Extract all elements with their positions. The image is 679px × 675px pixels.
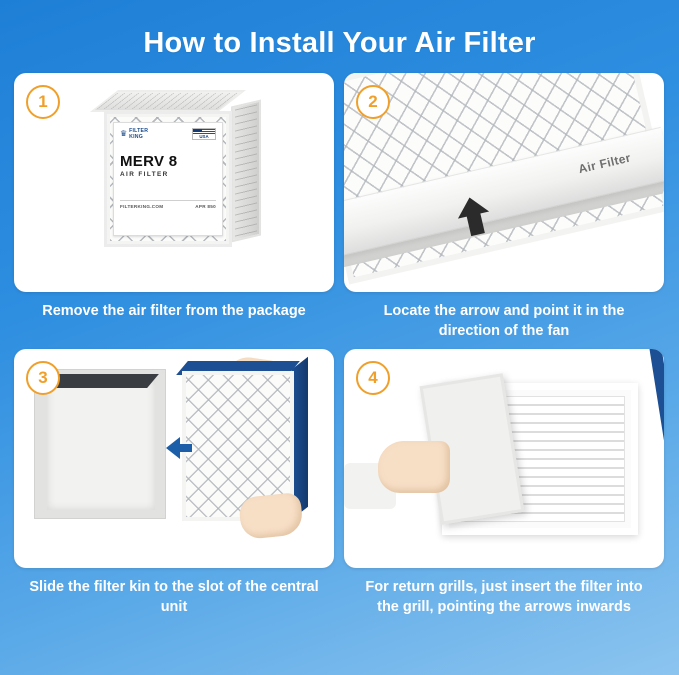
step-3-card: 3 (14, 349, 334, 568)
filter-side-face (231, 100, 261, 243)
infographic-page: How to Install Your Air Filter 1 (0, 19, 679, 675)
brand-block: ♛ FILTER KING (120, 128, 148, 140)
step-1-card: 1 ♛ FILTER (14, 73, 334, 292)
label-header: ♛ FILTER KING USA (120, 128, 216, 140)
unit-opening (47, 380, 155, 510)
step-2-card: Air Filter 2 (344, 73, 664, 292)
step-3: 3 Slide the filter kin to the slot of th… (14, 349, 334, 617)
air-filter-box: ♛ FILTER KING USA (92, 103, 267, 263)
insert-direction-arrow-icon (166, 435, 192, 461)
step-4: 4 For return grills, just insert the fil… (344, 349, 664, 617)
steps-grid: 1 ♛ FILTER (14, 73, 665, 617)
filter-frame-edge (649, 349, 664, 490)
page-title: How to Install Your Air Filter (0, 19, 679, 60)
usa-flag-badge: USA (192, 128, 216, 140)
product-label: ♛ FILTER KING USA (113, 122, 223, 236)
filter-front-face: ♛ FILTER KING USA (104, 111, 232, 247)
step-3-caption: Slide the filter kin to the slot of the … (24, 577, 324, 617)
central-unit-housing (34, 369, 166, 519)
product-type-text: AIR FILTER (120, 171, 216, 178)
filter-top-face (90, 90, 246, 112)
merv-rating-text: MERV 8 (120, 154, 216, 170)
flag-stripes-icon (193, 129, 215, 134)
step-2: Air Filter 2 Locate the arrow and point … (344, 73, 664, 341)
step-4-caption: For return grills, just insert the filte… (354, 577, 654, 617)
label-footer: FILTERKING.COM APR 850 (120, 204, 216, 209)
step-1-illustration: ♛ FILTER KING USA (14, 73, 334, 292)
step-2-illustration: Air Filter (344, 73, 664, 292)
website-text: FILTERKING.COM (120, 204, 163, 209)
crown-icon: ♛ (120, 130, 127, 138)
air-filter-text: Air Filter (577, 151, 632, 177)
step-2-caption: Locate the arrow and point it in the dir… (354, 301, 654, 341)
arrow-svg (166, 435, 192, 461)
label-divider (120, 200, 216, 201)
step-3-illustration (14, 349, 334, 568)
step-4-illustration (344, 349, 664, 568)
step-1: 1 ♛ FILTER (14, 73, 334, 341)
flag-label: USA (193, 134, 215, 139)
brand-text-block: FILTER KING (129, 128, 148, 140)
step-4-card: 4 (344, 349, 664, 568)
apr-rating-text: APR 850 (195, 204, 216, 209)
brand-line-2: KING (129, 134, 148, 140)
step-1-caption: Remove the air filter from the package (24, 301, 324, 321)
hand-inserting-filter (378, 441, 450, 493)
hand-lower (238, 492, 304, 540)
